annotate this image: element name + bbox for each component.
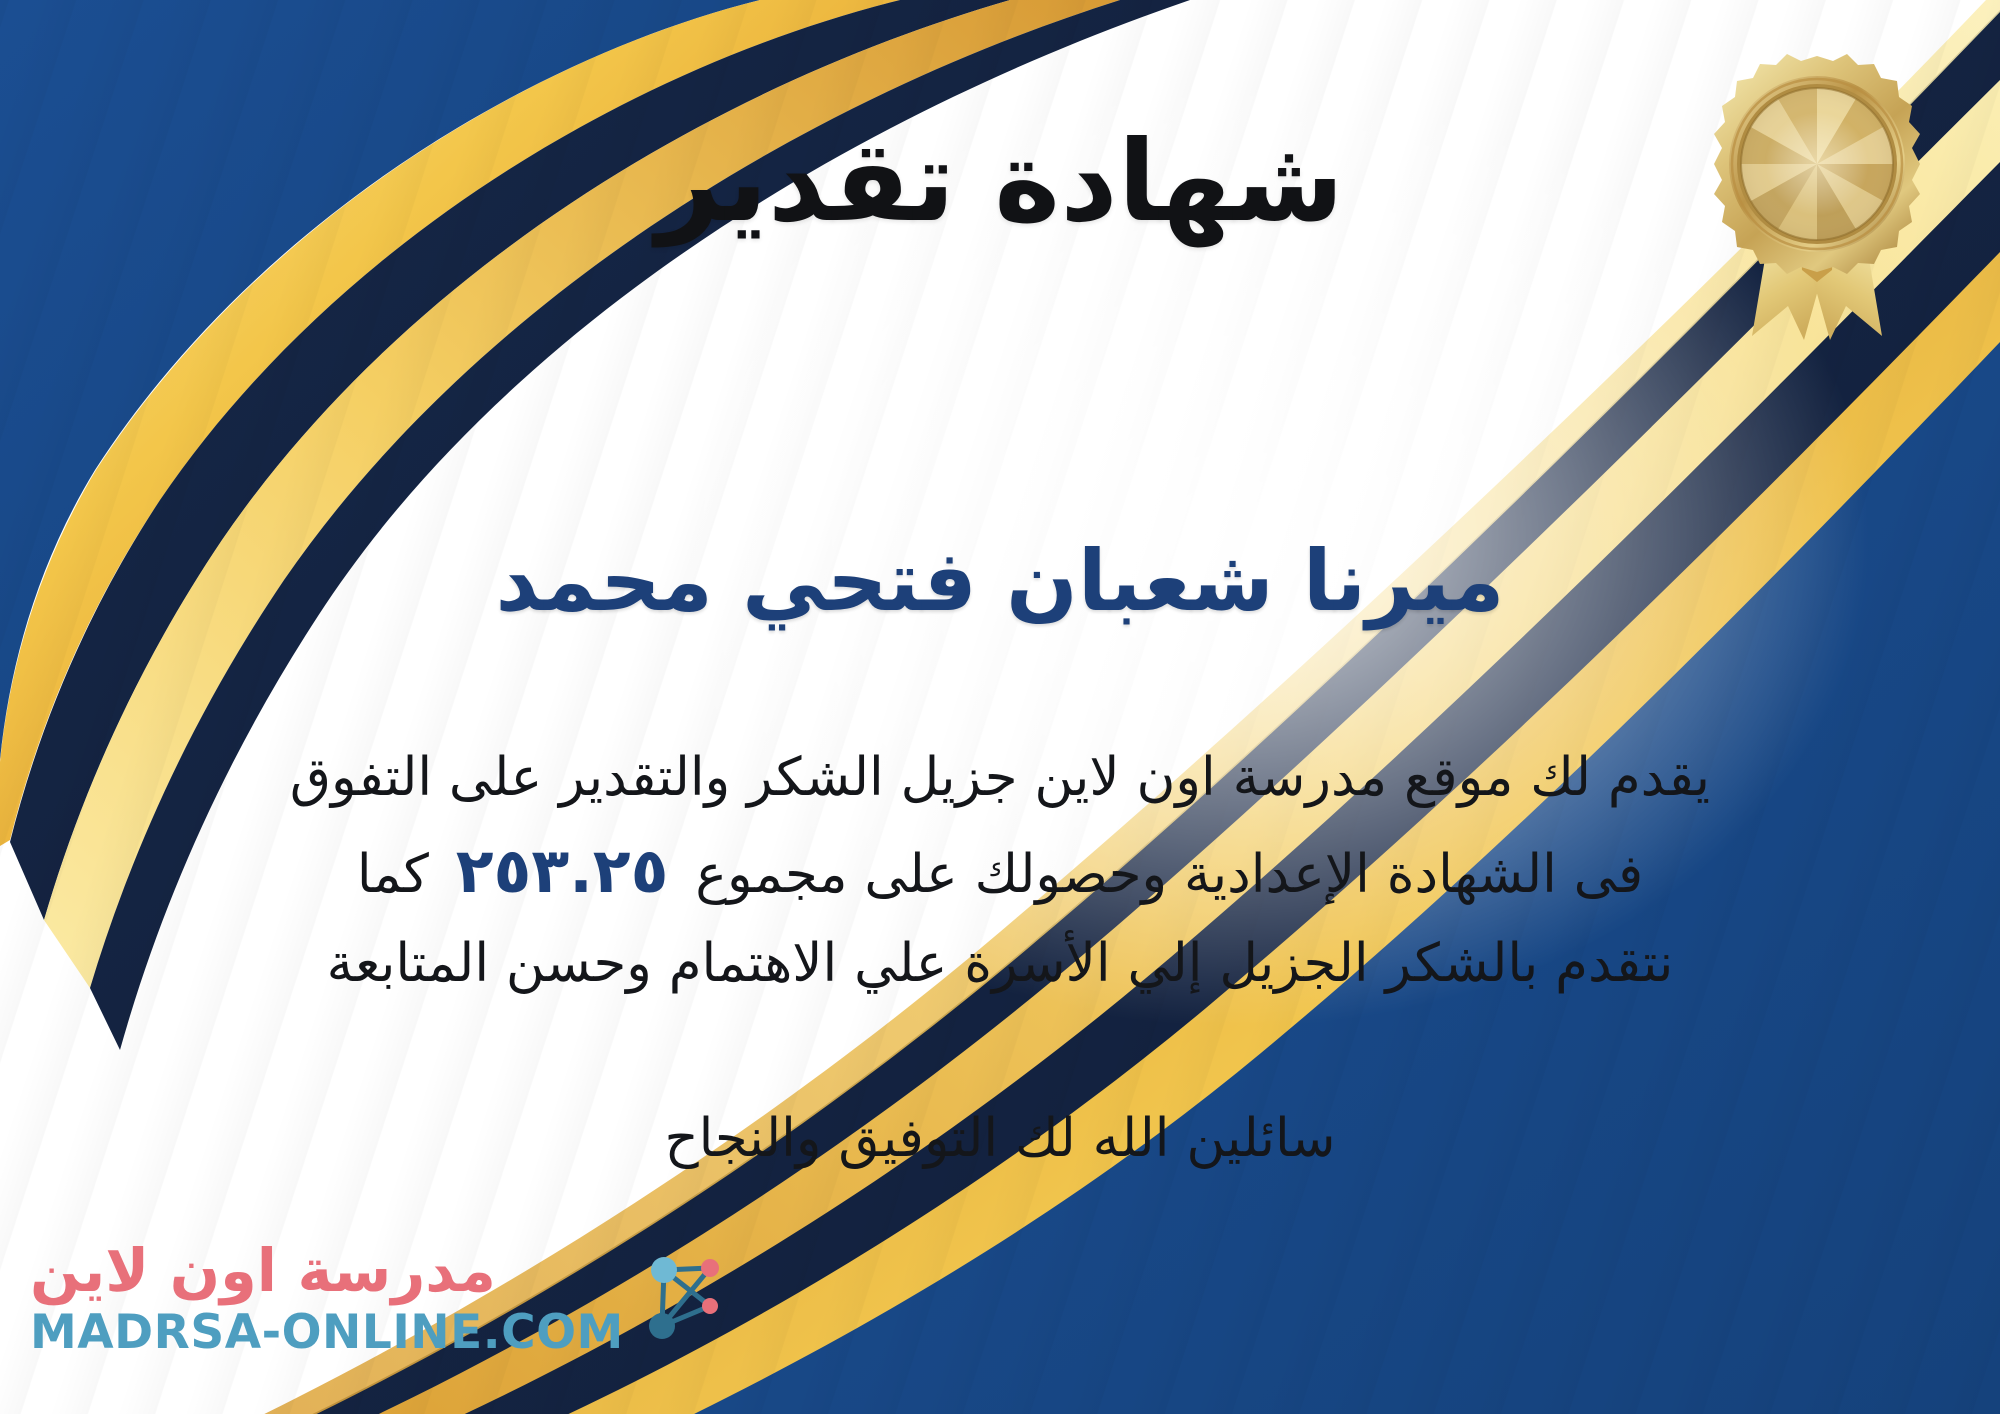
recipient-name: ميرنا شعبان فتحي محمد: [0, 533, 2000, 630]
body-line-2-prefix: فى الشهادة الإعدادية وحصولك على مجموع: [695, 844, 1643, 905]
score-value: ٢٥٣.٢٥: [446, 834, 679, 907]
gold-medal-rosette-icon: [1692, 44, 1942, 344]
brand-website: MADRSA-ONLINE.COM: [30, 1306, 624, 1360]
brand-arabic-name: مدرسة اون لاين: [30, 1241, 496, 1300]
body-line-3: نتقدم بالشكر الجزيل إلي الأسرة علي الاهت…: [60, 921, 1940, 1007]
body-line-2-suffix: كما: [357, 844, 429, 905]
certificate-canvas: شهادة تقدير ميرنا شعبان فتحي محمد يقدم ل…: [0, 0, 2000, 1414]
brand-text-group: مدرسة اون لاين MADRSA-ONLINE.COM: [30, 1241, 624, 1360]
network-nodes-icon: [638, 1250, 734, 1350]
body-line-1: يقدم لك موقع مدرسة اون لاين جزيل الشكر و…: [60, 735, 1940, 821]
closing-line: سائلين الله لك التوفيق والنجاح: [0, 1108, 2000, 1169]
brand-logo[interactable]: مدرسة اون لاين MADRSA-ONLINE.COM: [30, 1241, 734, 1360]
body-line-2: فى الشهادة الإعدادية وحصولك على مجموع ٢٥…: [60, 821, 1940, 921]
certificate-body: يقدم لك موقع مدرسة اون لاين جزيل الشكر و…: [60, 735, 1940, 1007]
